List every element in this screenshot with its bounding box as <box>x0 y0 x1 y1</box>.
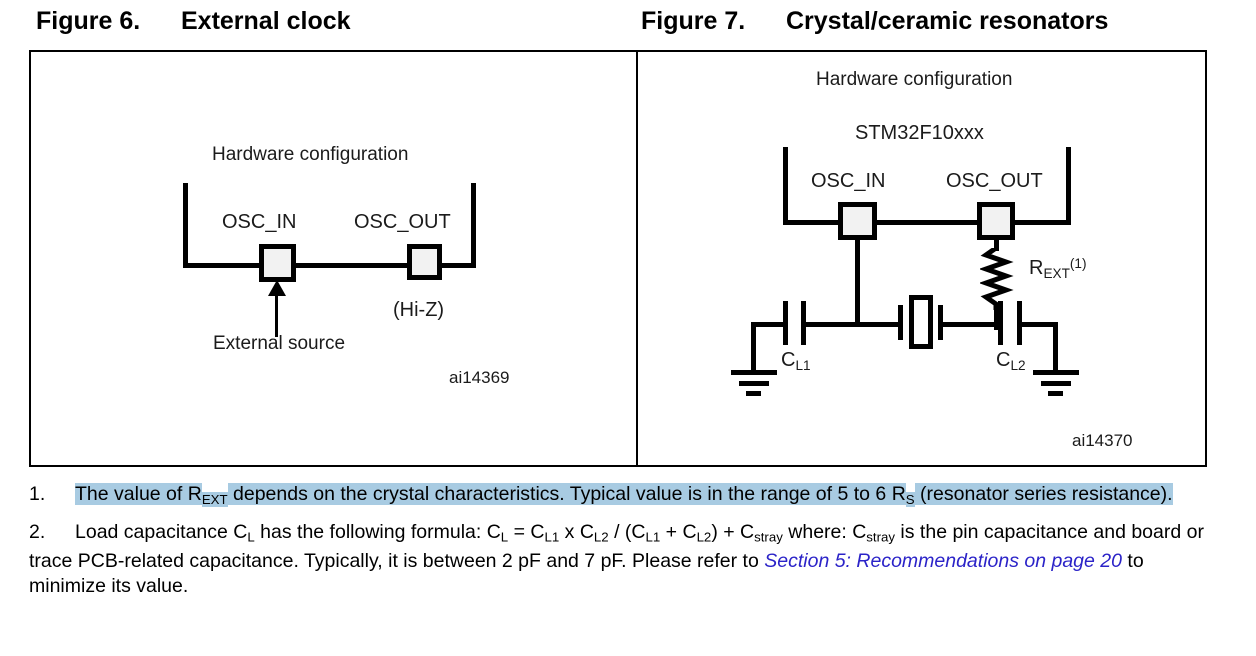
cap-l2-symbol: C <box>996 349 1010 371</box>
figure-6-panel: Hardware configuration OSC_IN OSC_OUT Ex… <box>31 52 638 465</box>
figures-frame: Hardware configuration OSC_IN OSC_OUT Ex… <box>29 50 1207 467</box>
footnote-2-number: 2. <box>29 520 63 545</box>
left-ground-stem <box>751 322 756 374</box>
cap-l1-subscript: L1 <box>795 358 810 373</box>
cap-l1-symbol: C <box>781 349 795 371</box>
crystal-plate-a <box>898 305 903 340</box>
left-ground-bar-3 <box>746 391 761 396</box>
figure-7-osc-in-pad <box>838 202 877 240</box>
right-ground-stem <box>1053 322 1058 374</box>
figure-7-hardware-label: Hardware configuration <box>816 69 1012 91</box>
figure-7-number: Figure 7. <box>641 6 786 36</box>
figure-7-title: Crystal/ceramic resonators <box>786 7 1108 35</box>
external-source-arrow-stem <box>275 295 278 337</box>
figure-6-hiz-note: (Hi-Z) <box>393 299 444 322</box>
figure-6-art-id: ai14369 <box>449 368 510 388</box>
figure-7-chip-rail-mid <box>873 220 979 225</box>
figure-7-cap-l2-label: CL2 <box>996 349 1026 373</box>
figure-6-osc-out-label: OSC_OUT <box>354 211 451 234</box>
net-cap2-to-right-gnd <box>1021 322 1057 327</box>
figure-6-osc-out-pad <box>407 244 442 280</box>
external-source-arrow-head <box>268 280 286 296</box>
right-ground-bar-3 <box>1048 391 1063 396</box>
figure-6-number: Figure 6. <box>36 6 181 36</box>
section-link[interactable]: Section 5: Recommendations on page 20 <box>764 550 1122 572</box>
figure-6-hardware-label: Hardware configuration <box>212 144 408 166</box>
crystal-body-icon <box>909 295 933 349</box>
footnote-1-number: 1. <box>29 482 63 507</box>
footnote-1: 1. The value of REXT depends on the crys… <box>29 482 1219 512</box>
chip-outline-bottom-rail-left <box>183 263 261 268</box>
figure-7-rext-label: REXT(1) <box>1029 256 1087 281</box>
cap-l1-plate-a <box>783 301 788 345</box>
net-xtal-to-resistor-node <box>942 322 997 327</box>
figure-6-osc-in-label: OSC_IN <box>222 211 296 234</box>
figure-7-osc-in-label: OSC_IN <box>811 170 885 193</box>
chip-outline-bottom-rail-mid <box>293 263 409 268</box>
figure-7-osc-out-pad <box>977 202 1015 240</box>
figure-7-chip-left-edge <box>783 147 788 225</box>
rext-subscript: EXT <box>1043 266 1069 281</box>
left-ground-bar-1 <box>731 370 777 375</box>
net-node-to-xtal <box>855 322 900 327</box>
figure-7-chip-rail-left <box>783 220 840 225</box>
chip-outline-right-edge <box>471 183 476 268</box>
figure-6-osc-in-pad <box>259 244 296 282</box>
left-ground-bar-2 <box>739 381 769 386</box>
rext-superscript: (1) <box>1070 256 1087 271</box>
footnote-2: 2. Load capacitance CL has the following… <box>29 520 1219 600</box>
resistor-zigzag-icon <box>980 248 1014 310</box>
right-ground-bar-1 <box>1033 370 1079 375</box>
rext-symbol: R <box>1029 257 1043 279</box>
osc-in-drop-wire <box>855 239 860 324</box>
figure-7-chip-rail-right <box>1013 220 1071 225</box>
figure-7-panel: Hardware configuration STM32F10xxx OSC_I… <box>638 52 1205 465</box>
footnote-1-text: The value of REXT depends on the crystal… <box>75 483 1173 505</box>
figure-7-art-id: ai14370 <box>1072 431 1133 451</box>
figure-captions: Figure 6.External clock Figure 7.Crystal… <box>0 6 1256 44</box>
right-ground-bar-2 <box>1041 381 1071 386</box>
chip-outline-bottom-rail-right <box>438 263 476 268</box>
figure-7-device-label: STM32F10xxx <box>855 122 984 145</box>
figure-7-cap-l1-label: CL1 <box>781 349 811 373</box>
cap-l2-plate-a <box>998 301 1003 345</box>
net-left-gnd-to-cap1 <box>751 322 785 327</box>
figure-7-caption: Figure 7.Crystal/ceramic resonators <box>641 6 1108 36</box>
figure-6-external-source-label: External source <box>213 333 345 355</box>
figure-7-chip-right-edge <box>1066 147 1071 225</box>
footnote-2-text: Load capacitance CL has the following fo… <box>29 521 1204 598</box>
figure-6-caption: Figure 6.External clock <box>36 6 351 36</box>
net-cap1-to-node <box>805 322 860 327</box>
figure-6-title: External clock <box>181 7 351 35</box>
figure-7-osc-out-label: OSC_OUT <box>946 170 1043 193</box>
figure-footnotes: 1. The value of REXT depends on the crys… <box>29 482 1219 607</box>
cap-l2-subscript: L2 <box>1010 358 1025 373</box>
chip-outline-left-edge <box>183 183 188 268</box>
